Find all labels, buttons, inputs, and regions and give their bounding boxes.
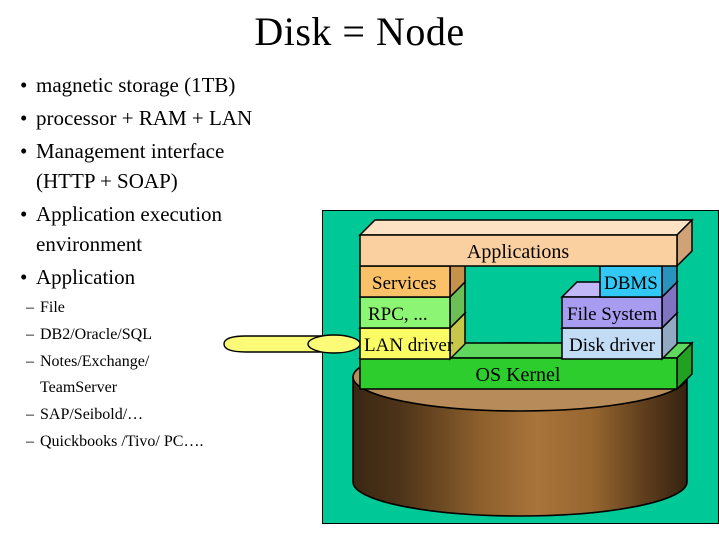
sub-bullet-text: Quickbooks /Tivo/ PC…. [40,429,203,455]
sub-list-item: – File [14,295,344,321]
sub-bullet-text: File [40,295,65,321]
dash-marker-icon: – [14,295,40,321]
cable-connector-ellipse [308,335,360,353]
dash-marker-icon: – [14,429,40,455]
sub-bullet-text: Notes/Exchange/TeamServer [40,349,149,401]
services-label: Services [372,273,436,294]
lan-driver-label: LAN driver [364,335,454,356]
list-item: • processor + RAM + LAN [14,103,344,133]
bullet-marker-icon: • [14,103,36,133]
bullet-text: Application executionenvironment [36,199,222,259]
bullet-marker-icon: • [14,70,36,100]
architecture-diagram-panel: OS Kernel LAN driver RPC, ... Services [322,210,719,524]
list-item: • Application executionenvironment [14,199,344,259]
bullet-marker-icon: • [14,136,36,166]
applications-label: Applications [467,241,569,263]
file-system-label: File System [567,304,657,325]
bullet-marker-icon: • [14,262,36,292]
applications-top-face [360,220,692,235]
kernel-label: OS Kernel [476,364,561,386]
lan-cable-connector [210,330,370,358]
dash-marker-icon: – [14,322,40,348]
dbms-label: DBMS [604,273,658,294]
bullet-text: processor + RAM + LAN [36,103,252,133]
architecture-diagram: OS Kernel LAN driver RPC, ... Services [322,210,719,524]
page-title: Disk = Node [0,8,719,56]
list-item: • Management interface(HTTP + SOAP) [14,136,344,196]
dash-marker-icon: – [14,349,40,375]
disk-driver-label: Disk driver [569,335,656,356]
bullet-text: Application [36,262,135,292]
rpc-label: RPC, ... [368,304,428,325]
list-item: • magnetic storage (1TB) [14,70,344,100]
bullet-text: Management interface(HTTP + SOAP) [36,136,224,196]
sub-list-item: – SAP/Seibold/… [14,402,344,428]
sub-list-item: – Quickbooks /Tivo/ PC…. [14,429,344,455]
sub-bullet-text: DB2/Oracle/SQL [40,322,152,348]
bullet-text: magnetic storage (1TB) [36,70,235,100]
dash-marker-icon: – [14,402,40,428]
bullet-marker-icon: • [14,199,36,229]
bullet-list: • magnetic storage (1TB) • processor + R… [14,70,344,456]
applications-block: Applications [360,220,692,266]
sub-bullet-text: SAP/Seibold/… [40,402,143,428]
list-item: • Application [14,262,344,292]
